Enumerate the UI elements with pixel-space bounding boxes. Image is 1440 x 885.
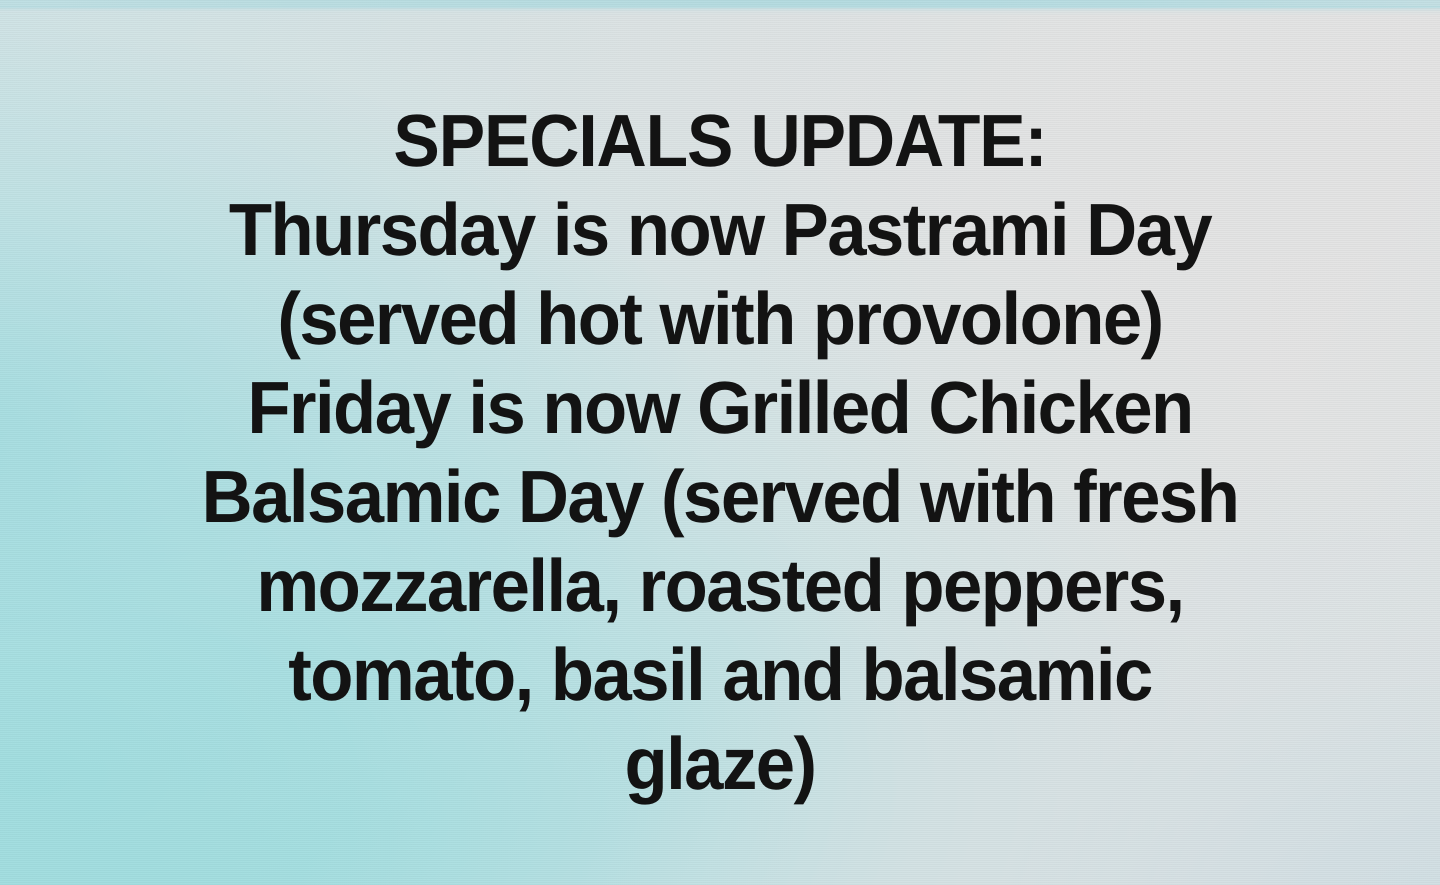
announcement-line-7: tomato, basil and balsamic bbox=[32, 630, 1407, 719]
announcement-line-5: Balsamic Day (served with fresh bbox=[32, 452, 1407, 541]
announcement-text-block: SPECIALS UPDATE: Thursday is now Pastram… bbox=[0, 0, 1440, 885]
announcement-line-6: mozzarella, roasted peppers, bbox=[32, 541, 1407, 630]
announcement-line-4: Friday is now Grilled Chicken bbox=[32, 363, 1407, 452]
announcement-line-8: glaze) bbox=[32, 719, 1407, 808]
announcement-line-3: (served hot with provolone) bbox=[32, 274, 1407, 363]
announcement-heading: SPECIALS UPDATE: bbox=[43, 96, 1397, 185]
announcement-line-2: Thursday is now Pastrami Day bbox=[32, 185, 1407, 274]
specials-update-poster: SPECIALS UPDATE: Thursday is now Pastram… bbox=[0, 0, 1440, 885]
